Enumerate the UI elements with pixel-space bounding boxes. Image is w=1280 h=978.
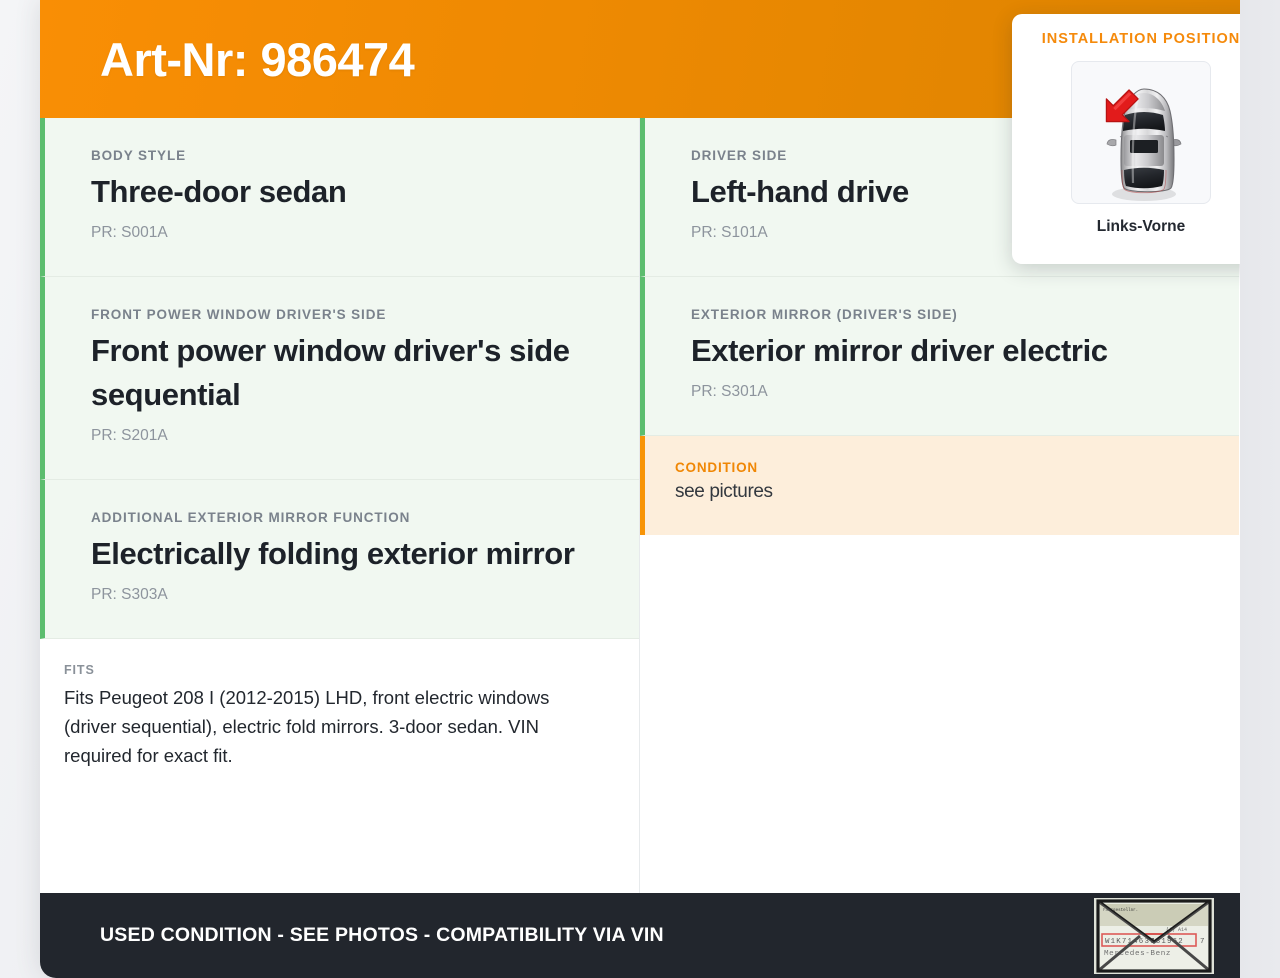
spec-value: Front power window driver's side sequent… — [91, 329, 593, 417]
condition-card[interactable]: CONDITION see pictures — [640, 436, 1239, 535]
spec-label: BODY STYLE — [91, 148, 593, 163]
installation-position-card[interactable]: INSTALLATION POSITION — [1012, 14, 1240, 264]
spec-card-additional-mirror-function[interactable]: ADDITIONAL EXTERIOR MIRROR FUNCTION Elec… — [40, 480, 639, 639]
spec-label: FRONT POWER WINDOW DRIVER'S SIDE — [91, 307, 593, 322]
spec-value: Electrically folding exterior mirror — [91, 532, 593, 576]
fits-section: FITS Fits Peugeot 208 I (2012-2015) LHD,… — [40, 639, 639, 800]
condition-label: CONDITION — [675, 460, 1193, 475]
product-sheet: Art-Nr: 986474 INSTALLATION POSITION — [40, 0, 1240, 978]
spec-value: Exterior mirror driver electric — [691, 329, 1193, 373]
fits-text: Fits Peugeot 208 I (2012-2015) LHD, fron… — [64, 683, 593, 770]
spec-card-exterior-mirror[interactable]: EXTERIOR MIRROR (DRIVER'S SIDE) Exterior… — [640, 277, 1239, 436]
vehicle-registration-envelope-icon[interactable]: Fahrgestellnr. (4) A14 W1K71463J31962 7 … — [1094, 898, 1214, 974]
installation-position-title: INSTALLATION POSITION — [1042, 31, 1240, 47]
footer-text: USED CONDITION - SEE PHOTOS - COMPATIBIL… — [100, 924, 664, 947]
spec-pr-code: PR: S001A — [91, 224, 593, 242]
spec-pr-code: PR: S301A — [691, 383, 1193, 401]
page-title: Art-Nr: 986474 — [40, 32, 414, 87]
specs-column-left: BODY STYLE Three-door sedan PR: S001A FR… — [40, 118, 640, 893]
installation-position-caption: Links-Vorne — [1097, 218, 1185, 236]
red-arrow-down-right-icon — [1096, 84, 1144, 132]
installation-position-thumbnail[interactable] — [1071, 61, 1211, 204]
spec-card-body-style[interactable]: BODY STYLE Three-door sedan PR: S001A — [40, 118, 639, 277]
fits-label: FITS — [64, 663, 593, 677]
spec-pr-code: PR: S201A — [91, 427, 593, 445]
spec-label: EXTERIOR MIRROR (DRIVER'S SIDE) — [691, 307, 1193, 322]
spec-label: ADDITIONAL EXTERIOR MIRROR FUNCTION — [91, 510, 593, 525]
spec-value: Three-door sedan — [91, 170, 593, 214]
footer-bar: USED CONDITION - SEE PHOTOS - COMPATIBIL… — [40, 893, 1240, 978]
page-edge-strip — [1240, 0, 1280, 978]
condition-value: see pictures — [675, 480, 1193, 505]
spec-card-front-power-window[interactable]: FRONT POWER WINDOW DRIVER'S SIDE Front p… — [40, 277, 639, 480]
spec-pr-code: PR: S303A — [91, 586, 593, 604]
